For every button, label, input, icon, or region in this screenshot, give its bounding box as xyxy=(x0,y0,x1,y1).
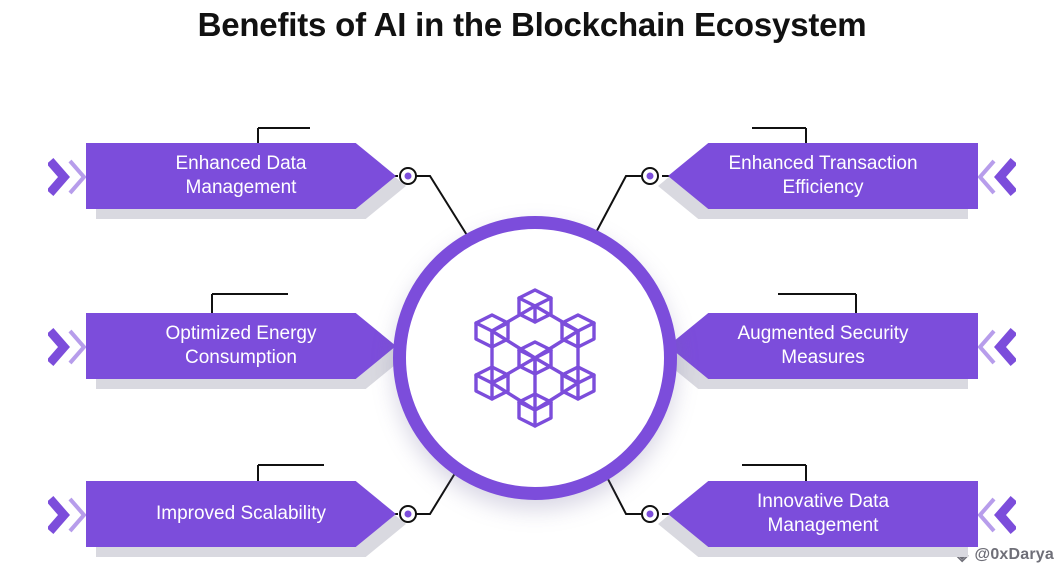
benefit-label: Innovative Data Management xyxy=(668,490,978,538)
benefit-banner[interactable]: Enhanced Data Management xyxy=(86,143,396,209)
center-circle xyxy=(393,216,677,500)
benefit-label: Improved Scalability xyxy=(86,502,396,526)
benefit-banner[interactable]: Innovative Data Management xyxy=(668,481,978,547)
benefit-label: Augmented Security Measures xyxy=(668,322,978,370)
blockchain-cube-network-icon xyxy=(450,273,620,443)
chevron-right-icon xyxy=(966,327,1016,367)
benefit-banner[interactable]: Optimized Energy Consumption xyxy=(86,313,396,379)
chevron-right-icon xyxy=(966,495,1016,535)
chevron-right-icon xyxy=(966,157,1016,197)
benefit-label: Enhanced Transaction Efficiency xyxy=(668,152,978,200)
benefit-banner[interactable]: Improved Scalability xyxy=(86,481,396,547)
benefit-label: Enhanced Data Management xyxy=(86,152,396,200)
benefit-banner[interactable]: Augmented Security Measures xyxy=(668,313,978,379)
benefit-banner[interactable]: Enhanced Transaction Efficiency xyxy=(668,143,978,209)
benefit-label: Optimized Energy Consumption xyxy=(86,322,396,370)
